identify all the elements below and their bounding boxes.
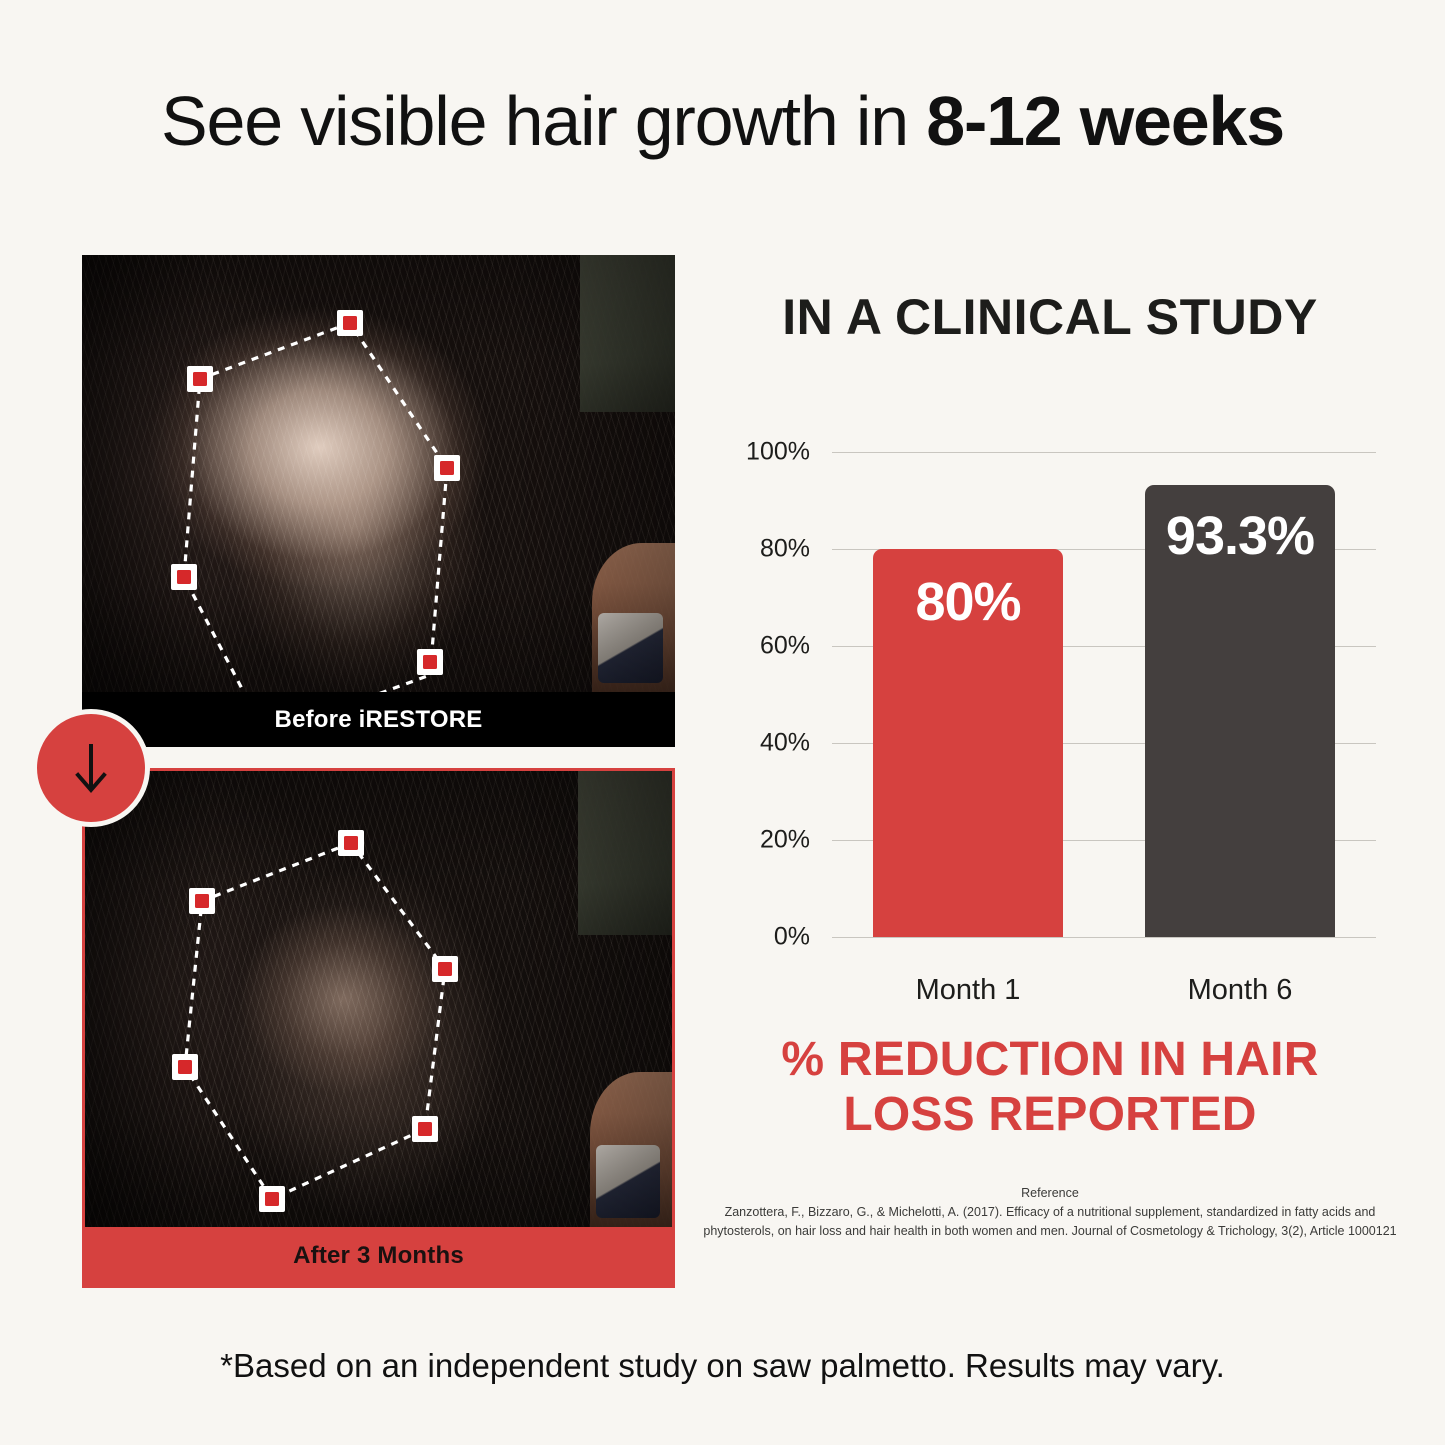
polygon-marker <box>259 1186 285 1212</box>
polygon-marker <box>417 649 443 675</box>
before-photo-frame <box>82 255 675 692</box>
ytick-label-100: 100% <box>746 438 810 467</box>
arrow-down-icon <box>71 740 111 796</box>
reference-line-2: phytosterols, on hair loss and hair heal… <box>700 1222 1400 1241</box>
hair-growth-infographic: See visible hair growth in 8-12 weeks <box>0 0 1445 1445</box>
polygon-marker <box>432 956 458 982</box>
polygon-marker <box>187 366 213 392</box>
page-title: See visible hair growth in 8-12 weeks <box>0 78 1445 164</box>
disclaimer-text: *Based on an independent study on saw pa… <box>0 1347 1445 1385</box>
polygon-marker <box>171 564 197 590</box>
ytick-label-40: 40% <box>760 729 810 758</box>
page-title-bold: 8-12 weeks <box>926 82 1284 160</box>
bar-value-month-6: 93.3% <box>1166 505 1314 938</box>
xtick-label-month-6: Month 6 <box>1104 974 1376 1007</box>
ytick-label-20: 20% <box>760 826 810 855</box>
study-heading: IN A CLINICAL STUDY <box>700 288 1400 346</box>
polygon-marker <box>189 888 215 914</box>
after-photo-frame <box>85 771 672 1227</box>
bar-month-6[interactable]: 93.3% <box>1145 485 1335 938</box>
chart-plot-area: 100% 80% 60% 40% 20% 0% 80% 93.3% <box>832 452 1376 937</box>
page-title-light: See visible hair growth in <box>161 82 926 160</box>
ytick-label-60: 60% <box>760 632 810 661</box>
gridline-0: 0% <box>832 937 1376 938</box>
arrow-down-badge <box>32 709 150 827</box>
before-after-comparison: Before iRESTORE <box>82 255 675 1288</box>
reduction-claim-line1: % REDUCTION IN HAIR <box>700 1032 1400 1087</box>
measurement-polygon-after <box>85 771 672 1227</box>
measurement-polygon-before <box>82 255 675 692</box>
polygon-marker <box>338 830 364 856</box>
before-photo-card: Before iRESTORE <box>82 255 675 747</box>
gridline-100: 100% <box>832 452 1376 453</box>
polygon-marker <box>434 455 460 481</box>
ytick-label-0: 0% <box>774 923 810 952</box>
reduction-claim-line2: LOSS REPORTED <box>700 1087 1400 1142</box>
reduction-bar-chart: 100% 80% 60% 40% 20% 0% 80% 93.3% <box>742 430 1382 990</box>
after-photo-card: After 3 Months <box>82 768 675 1288</box>
reduction-claim: % REDUCTION IN HAIR LOSS REPORTED <box>700 1032 1400 1142</box>
bar-value-month-1: 80% <box>915 571 1020 937</box>
bar-month-1[interactable]: 80% <box>873 549 1063 937</box>
reference-heading: Reference <box>700 1184 1400 1203</box>
reference-block: Reference Zanzottera, F., Bizzaro, G., &… <box>700 1184 1400 1241</box>
reference-line-1: Zanzottera, F., Bizzaro, G., & Michelott… <box>700 1203 1400 1222</box>
before-photo-caption: Before iRESTORE <box>82 692 675 747</box>
polygon-marker <box>172 1054 198 1080</box>
after-photo-caption: After 3 Months <box>85 1227 672 1285</box>
polygon-marker <box>337 310 363 336</box>
polygon-marker <box>412 1116 438 1142</box>
ytick-label-80: 80% <box>760 535 810 564</box>
xtick-label-month-1: Month 1 <box>832 974 1104 1007</box>
